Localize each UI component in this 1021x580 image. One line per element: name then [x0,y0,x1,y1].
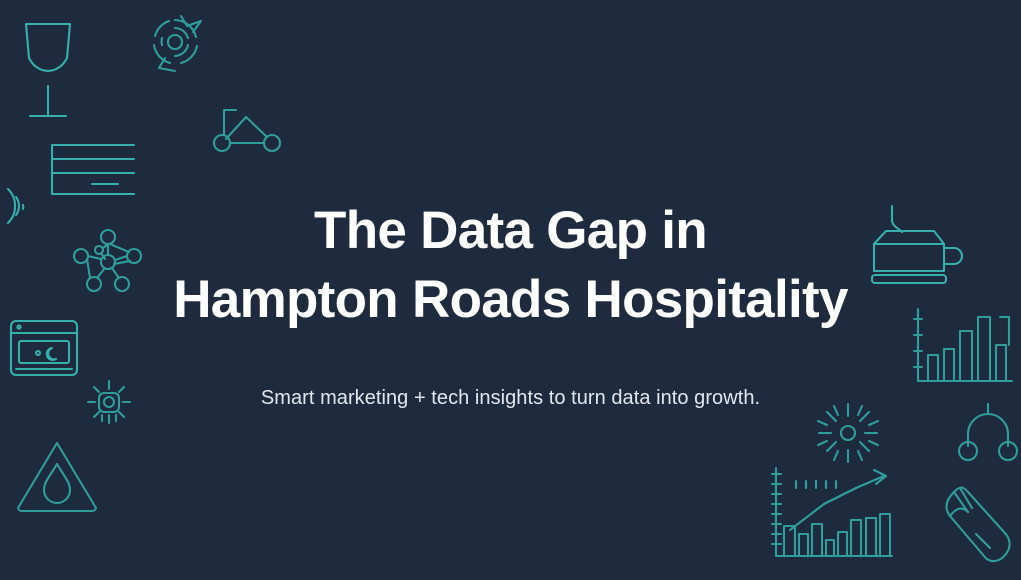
page-subtitle: Smart marketing + tech insights to turn … [0,334,1021,412]
hero-banner: The Data Gap in Hampton Roads Hospitalit… [0,0,1021,580]
hero-text-block: The Data Gap in Hampton Roads Hospitalit… [0,196,1021,412]
page-title: The Data Gap in Hampton Roads Hospitalit… [0,196,1021,334]
title-line-2: Hampton Roads Hospitality [173,270,848,329]
title-line-1: The Data Gap in [314,201,707,260]
